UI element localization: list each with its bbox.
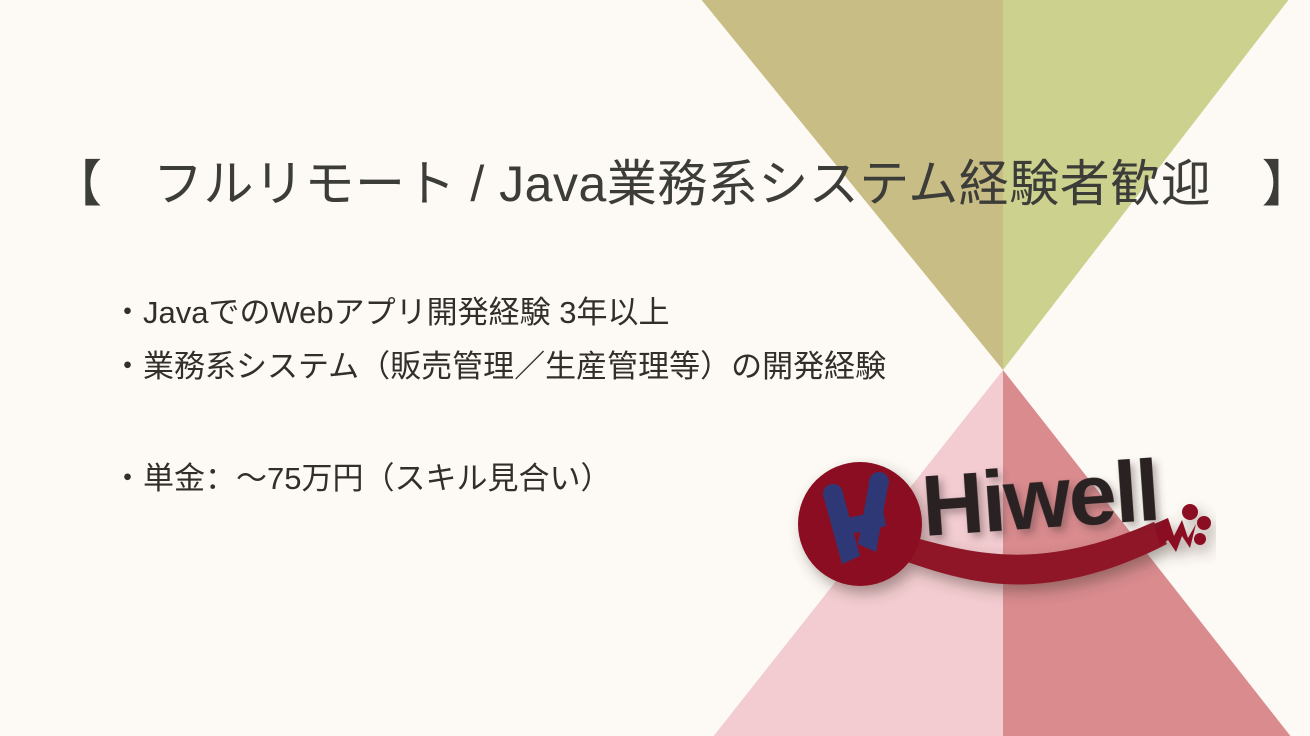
list-item: ・JavaでのWebアプリ開発経験 3年以上	[112, 296, 1112, 330]
hiwell-logo: Hiwell	[786, 432, 1216, 618]
slide-canvas: 【 フルリモート / Java業務系システム経験者歓迎 】 ・JavaでのWeb…	[0, 0, 1310, 736]
list-item: ・業務系システム（販売管理／生産管理等）の開発経験	[112, 350, 1112, 384]
page-title: 【 フルリモート / Java業務系システム経験者歓迎 】	[52, 146, 1267, 222]
logo-wordmark: Hiwell	[919, 443, 1162, 555]
